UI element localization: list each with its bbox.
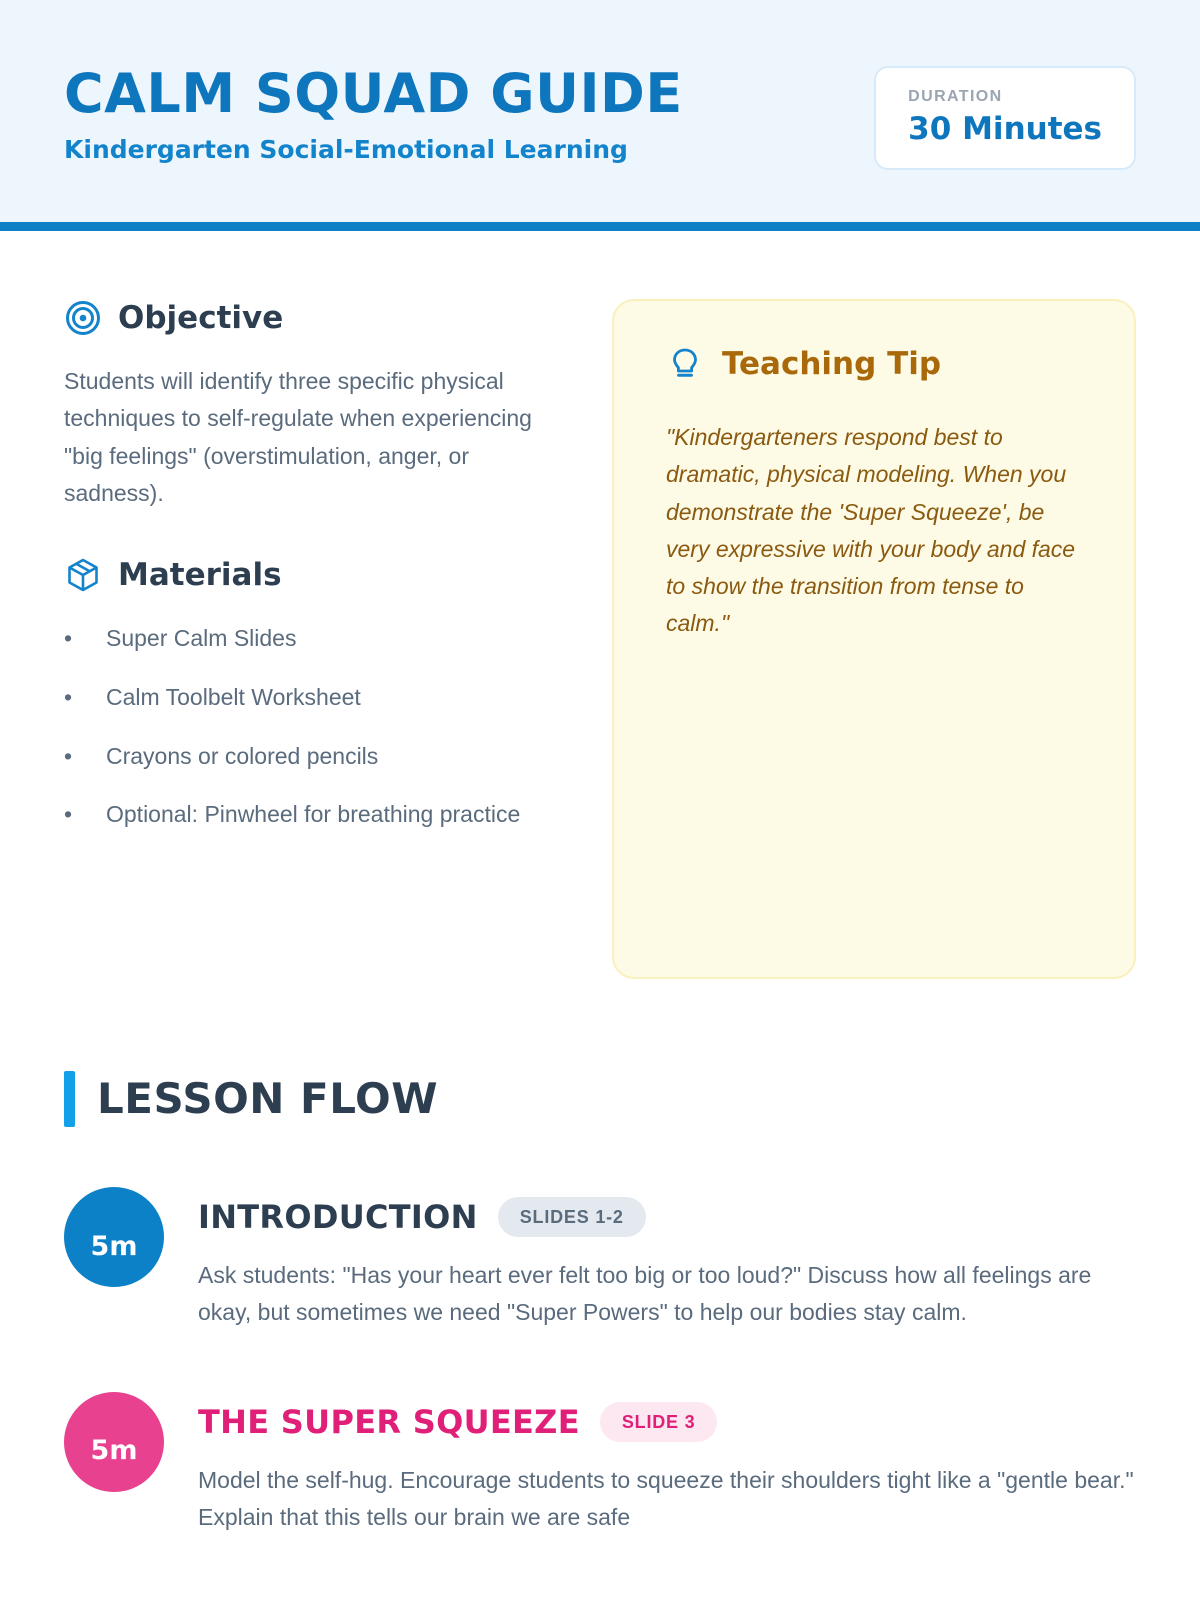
- duration-card: DURATION 30 Minutes: [874, 66, 1136, 170]
- overview-right-column: Teaching Tip "Kindergarteners respond be…: [612, 299, 1136, 979]
- overview-left-column: Objective Students will identify three s…: [64, 299, 564, 855]
- lesson-flow-heading-row: LESSON FLOW: [64, 1071, 1136, 1127]
- materials-heading: Materials: [118, 560, 282, 591]
- bullet-glyph: •: [64, 738, 106, 775]
- objective-text: Students will identify three specific ph…: [64, 363, 564, 512]
- list-item-label: Optional: Pinwheel for breathing practic…: [106, 801, 520, 827]
- step-duration-badge: 5m: [64, 1392, 164, 1492]
- bullet-glyph: •: [64, 796, 106, 833]
- list-item-label: Super Calm Slides: [106, 625, 296, 651]
- lesson-flow-accent-bar: [64, 1071, 75, 1127]
- objective-heading: Objective: [118, 303, 283, 334]
- page-subtitle: Kindergarten Social-Emotional Learning: [64, 135, 683, 164]
- page-title: CALM SQUAD GUIDE: [64, 66, 683, 123]
- step-title-row: INTRODUCTION SLIDES 1-2: [198, 1197, 1136, 1237]
- step-slides-chip: SLIDE 3: [600, 1402, 718, 1442]
- list-item: •Crayons or colored pencils: [64, 738, 564, 775]
- list-item-label: Calm Toolbelt Worksheet: [106, 684, 361, 710]
- package-box-icon: [64, 556, 102, 594]
- header-titles: CALM SQUAD GUIDE Kindergarten Social-Emo…: [64, 58, 683, 164]
- duration-value: 30 Minutes: [908, 112, 1102, 146]
- step-duration-badge: 5m: [64, 1187, 164, 1287]
- overview-grid: Objective Students will identify three s…: [64, 231, 1136, 979]
- step-slides-chip: SLIDES 1-2: [498, 1197, 646, 1237]
- teaching-tip-text: "Kindergarteners respond best to dramati…: [666, 419, 1082, 643]
- step-title: THE SUPER SQUEEZE: [198, 1406, 580, 1438]
- materials-list: •Super Calm Slides •Calm Toolbelt Worksh…: [64, 620, 564, 833]
- teaching-tip-card: Teaching Tip "Kindergarteners respond be…: [612, 299, 1136, 979]
- step-title: INTRODUCTION: [198, 1201, 478, 1233]
- materials-heading-row: Materials: [64, 556, 564, 594]
- lightbulb-icon: [666, 345, 704, 383]
- lesson-step: 5m INTRODUCTION SLIDES 1-2 Ask students:…: [64, 1187, 1136, 1332]
- list-item: •Super Calm Slides: [64, 620, 564, 657]
- step-title-row: THE SUPER SQUEEZE SLIDE 3: [198, 1402, 1136, 1442]
- list-item: •Optional: Pinwheel for breathing practi…: [64, 796, 564, 833]
- target-icon: [64, 299, 102, 337]
- lesson-flow-heading: LESSON FLOW: [97, 1078, 438, 1120]
- teaching-tip-heading-row: Teaching Tip: [666, 345, 1082, 383]
- lesson-step: 5m THE SUPER SQUEEZE SLIDE 3 Model the s…: [64, 1392, 1136, 1537]
- teaching-tip-heading: Teaching Tip: [722, 346, 941, 382]
- step-description: Model the self-hug. Encourage students t…: [198, 1462, 1136, 1537]
- bullet-glyph: •: [64, 679, 106, 716]
- header-divider-bar: [0, 222, 1200, 231]
- materials-block: Materials •Super Calm Slides •Calm Toolb…: [64, 556, 564, 833]
- step-content: THE SUPER SQUEEZE SLIDE 3 Model the self…: [198, 1392, 1136, 1537]
- list-item-label: Crayons or colored pencils: [106, 743, 378, 769]
- step-description: Ask students: "Has your heart ever felt …: [198, 1257, 1136, 1332]
- bullet-glyph: •: [64, 620, 106, 657]
- page-content: Objective Students will identify three s…: [0, 231, 1200, 1536]
- list-item: •Calm Toolbelt Worksheet: [64, 679, 564, 716]
- objective-heading-row: Objective: [64, 299, 564, 337]
- duration-label: DURATION: [908, 88, 1102, 106]
- step-content: INTRODUCTION SLIDES 1-2 Ask students: "H…: [198, 1187, 1136, 1332]
- page-header: CALM SQUAD GUIDE Kindergarten Social-Emo…: [0, 0, 1200, 222]
